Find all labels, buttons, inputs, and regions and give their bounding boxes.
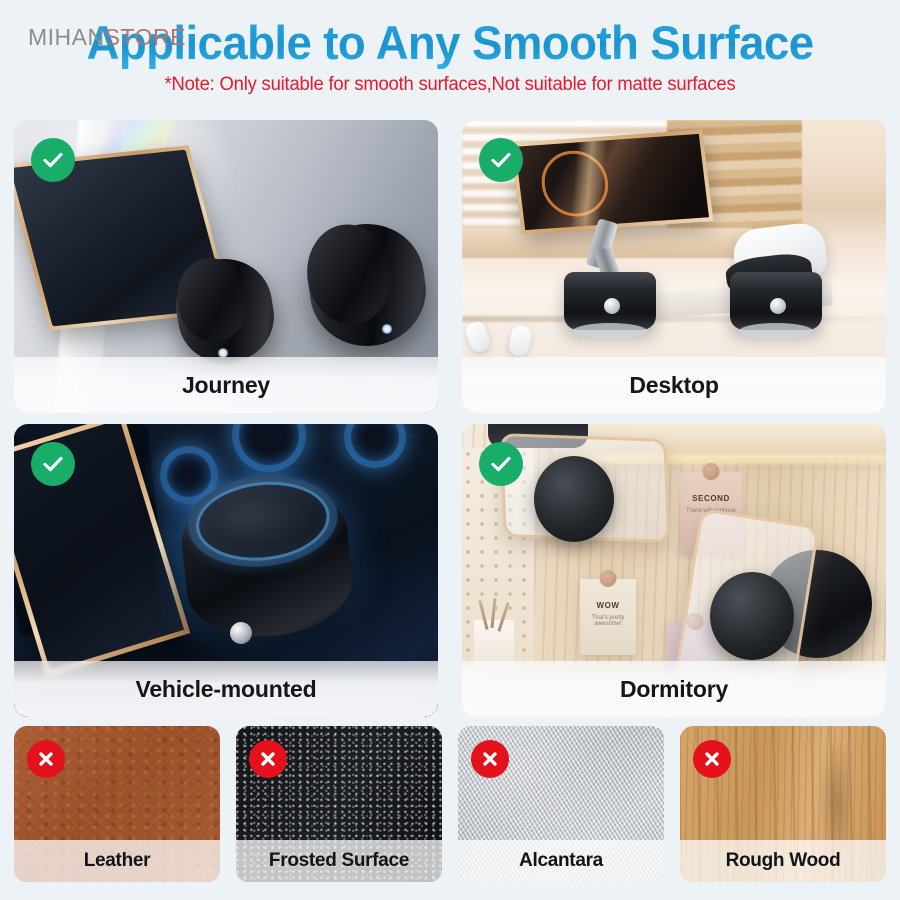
glint-icon — [381, 324, 393, 334]
surface-card-alcantara[interactable]: Alcantara — [458, 726, 664, 882]
magnetic-mount — [177, 478, 358, 645]
caption-bar: Desktop — [462, 357, 886, 413]
check-icon — [488, 451, 514, 477]
status-badge-cross — [27, 740, 65, 778]
surface-label: Rough Wood — [726, 850, 841, 872]
air-vent — [344, 424, 406, 468]
surface-label-bar: Rough Wood — [680, 840, 886, 882]
cross-icon — [702, 749, 722, 769]
status-badge-check — [31, 442, 75, 486]
phone-device — [510, 130, 713, 235]
cross-icon — [480, 749, 500, 769]
scene-card-journey[interactable]: Journey — [14, 120, 438, 413]
air-vent — [232, 424, 306, 472]
check-icon — [488, 147, 514, 173]
watermark-part-one: MIHAN — [28, 24, 105, 50]
surface-card-frosted[interactable]: Frosted Surface — [236, 726, 442, 882]
surface-card-rough-wood[interactable]: Rough Wood — [680, 726, 886, 882]
cross-icon — [36, 749, 56, 769]
status-badge-cross — [471, 740, 509, 778]
desk-edge — [462, 316, 886, 322]
loose-earbud — [464, 320, 492, 355]
status-badge-check — [479, 442, 523, 486]
scene-card-dormitory[interactable]: SECOND There will continue WOW That's pr… — [462, 424, 886, 717]
scene-card-vehicle[interactable]: Vehicle-mounted — [14, 424, 438, 717]
suction-base-phone — [564, 272, 656, 330]
status-badge-check — [479, 138, 523, 182]
status-badge-cross — [693, 740, 731, 778]
magnetic-disc-right — [710, 572, 794, 660]
status-badge-cross — [249, 740, 287, 778]
surface-label: Frosted Surface — [269, 850, 409, 872]
note-subtitle: That's pretty awesome! — [580, 615, 636, 627]
scene-caption: Desktop — [629, 372, 718, 399]
status-badge-check — [31, 138, 75, 182]
scene-caption: Journey — [182, 372, 270, 399]
scene-card-desktop[interactable]: Desktop — [462, 120, 886, 413]
check-icon — [40, 451, 66, 477]
note-title: SECOND — [680, 494, 742, 503]
unsupported-surface-grid: Leather Frosted Surface Alcantara — [14, 726, 886, 882]
watermark-part-two: STORE — [105, 24, 186, 50]
magnetic-disc-top — [534, 456, 614, 542]
caption-bar: Dormitory — [462, 661, 886, 717]
page-note: *Note: Only suitable for smooth surfaces… — [14, 74, 887, 96]
magnetic-mount-far — [301, 217, 433, 354]
knob-icon — [770, 298, 786, 314]
caption-bar: Vehicle-mounted — [14, 661, 438, 717]
suction-base-earbuds — [730, 272, 822, 330]
watermark-mihanstore: MIHANSTORE — [28, 24, 186, 51]
scene-caption: Dormitory — [620, 676, 728, 703]
page-header: MIHANSTORE Applicable to Any Smooth Surf… — [0, 0, 900, 110]
sticky-note: WOW That's pretty awesome! — [580, 579, 636, 655]
surface-label: Leather — [84, 850, 151, 872]
cross-icon — [258, 749, 278, 769]
scene-grid: Journey — [14, 120, 886, 717]
surface-label: Alcantara — [519, 850, 603, 872]
surface-card-leather[interactable]: Leather — [14, 726, 220, 882]
surface-label-bar: Alcantara — [458, 840, 664, 882]
note-title: WOW — [580, 601, 636, 610]
scene-caption: Vehicle-mounted — [135, 676, 316, 703]
glow-ring — [192, 475, 333, 567]
surface-label-bar: Leather — [14, 840, 220, 882]
surface-label-bar: Frosted Surface — [236, 840, 442, 882]
check-icon — [40, 147, 66, 173]
loose-earbud — [507, 324, 533, 358]
knob-icon — [604, 298, 620, 314]
caption-bar: Journey — [14, 357, 438, 413]
